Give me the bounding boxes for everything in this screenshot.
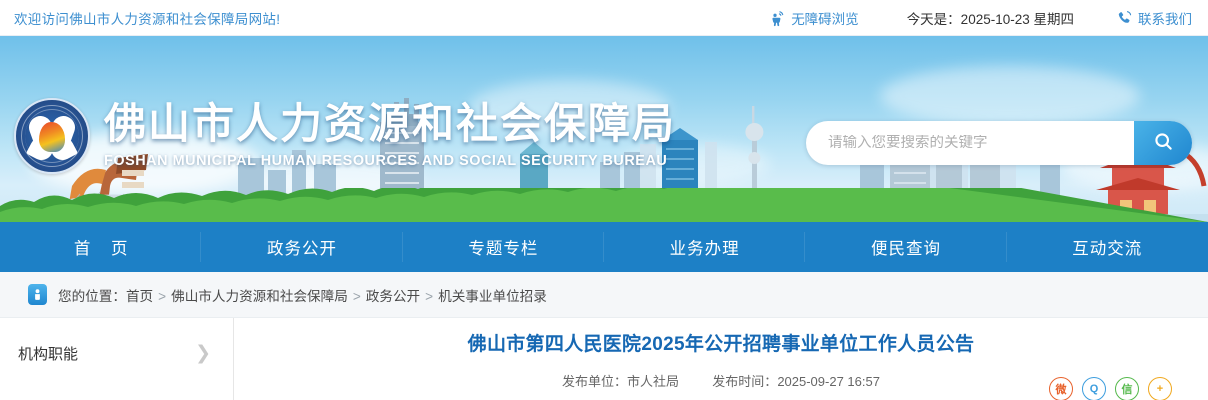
main-area: 机构职能 ❯ 佛山市第四人民医院2025年公开招聘事业单位工作人员公告 发布单位…: [0, 318, 1208, 400]
share-buttons: 微 Q 信 +: [1049, 377, 1172, 400]
accessibility-link[interactable]: 无障碍浏览: [769, 8, 859, 28]
nav-item-bmcx[interactable]: 便民查询: [805, 222, 1006, 272]
accessibility-icon: [769, 10, 786, 27]
main-navigation: 首 页 政务公开 专题专栏 业务办理 便民查询 互动交流: [0, 222, 1208, 272]
nav-item-home[interactable]: 首 页: [0, 222, 201, 272]
nav-item-hdjl[interactable]: 互动交流: [1007, 222, 1208, 272]
share-more-glyph: +: [1157, 383, 1163, 395]
current-date: 今天是：2025-10-23 星期四: [907, 8, 1074, 28]
article-content: 佛山市第四人民医院2025年公开招聘事业单位工作人员公告 发布单位：市人社局 发…: [234, 318, 1208, 400]
phone-icon: [1116, 10, 1133, 27]
publisher-label: 发布单位：: [562, 374, 627, 389]
breadcrumb-prefix: 您的位置：: [58, 289, 126, 304]
sidebar-item-jigouzhineng[interactable]: 机构职能 ❯: [0, 330, 233, 376]
breadcrumb-separator: >: [425, 289, 433, 304]
site-title-cn: 佛山市人力资源和社会保障局: [104, 103, 676, 145]
top-utility-bar: 欢迎访问佛山市人力资源和社会保障局网站! 无障碍浏览 今天是：2025-10-2…: [0, 0, 1208, 36]
nav-item-ywbl[interactable]: 业务办理: [604, 222, 805, 272]
topbar-right-group: 无障碍浏览 今天是：2025-10-23 星期四 联系我们: [769, 0, 1208, 36]
welcome-text: 欢迎访问佛山市人力资源和社会保障局网站!: [14, 8, 280, 28]
publish-time-label: 发布时间：: [712, 374, 777, 389]
breadcrumb-separator: >: [353, 289, 361, 304]
site-title-en: FOSHAN MUNICIPAL HUMAN RESOURCES AND SOC…: [104, 154, 676, 168]
breadcrumb-separator: >: [158, 289, 166, 304]
left-sidebar: 机构职能 ❯: [0, 318, 234, 400]
chevron-right-icon: ❯: [195, 344, 211, 363]
breadcrumb-item-zwgk[interactable]: 政务公开: [366, 289, 420, 304]
breadcrumb-item-home[interactable]: 首页: [126, 289, 153, 304]
publisher-value: 市人社局: [627, 374, 679, 389]
share-wechat-icon[interactable]: 信: [1115, 377, 1139, 400]
share-weibo-glyph: 微: [1056, 381, 1067, 397]
breadcrumb: 您的位置：首页>佛山市人力资源和社会保障局>政务公开>机关事业单位招录: [58, 285, 547, 305]
share-qzone-icon[interactable]: Q: [1082, 377, 1106, 400]
breadcrumb-item-current[interactable]: 机关事业单位招录: [438, 289, 547, 304]
breadcrumb-bar: 您的位置：首页>佛山市人力资源和社会保障局>政务公开>机关事业单位招录: [0, 272, 1208, 318]
site-logo-block[interactable]: 佛山市人力资源和社会保障局 FOSHAN MUNICIPAL HUMAN RES…: [14, 98, 676, 174]
breadcrumb-item-bureau[interactable]: 佛山市人力资源和社会保障局: [171, 289, 348, 304]
search-button[interactable]: [1134, 121, 1192, 165]
nav-item-ztzl[interactable]: 专题专栏: [403, 222, 604, 272]
location-pin-icon: [28, 284, 47, 305]
foshan-emblem-logo: [14, 98, 90, 174]
share-wechat-glyph: 信: [1122, 381, 1133, 397]
contact-label: 联系我们: [1138, 8, 1192, 28]
site-banner: 佛山市人力资源和社会保障局 FOSHAN MUNICIPAL HUMAN RES…: [0, 36, 1208, 222]
share-more-icon[interactable]: +: [1148, 377, 1172, 400]
search-input[interactable]: [806, 135, 1134, 151]
contact-us-link[interactable]: 联系我们: [1116, 8, 1192, 28]
nav-item-zwgk[interactable]: 政务公开: [201, 222, 402, 272]
search-box: [806, 121, 1192, 165]
treeline-illustration: [0, 188, 1208, 222]
page-title: 佛山市第四人民医院2025年公开招聘事业单位工作人员公告: [234, 332, 1208, 358]
share-qzone-glyph: Q: [1090, 383, 1099, 395]
sidebar-item-label: 机构职能: [18, 343, 78, 364]
publish-time-value: 2025-09-27 16:57: [777, 374, 880, 389]
search-icon: [1153, 131, 1174, 155]
accessibility-label: 无障碍浏览: [791, 8, 859, 28]
share-weibo-icon[interactable]: 微: [1049, 377, 1073, 400]
